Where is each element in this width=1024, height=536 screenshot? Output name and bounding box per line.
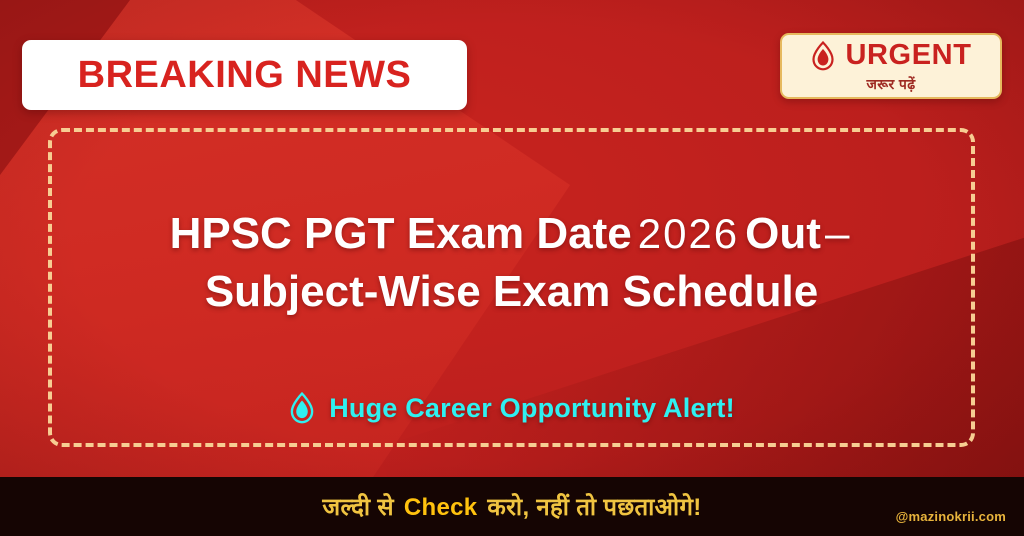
headline-prefix: HPSC PGT Exam Date <box>170 209 632 258</box>
cta-suffix: करो, नहीं तो पछताओगे! <box>487 494 701 521</box>
urgent-label: URGENT <box>845 41 971 70</box>
droplet-icon <box>288 392 316 424</box>
headline-line-1: HPSC PGT Exam Date2026Out– <box>48 205 975 263</box>
breaking-news-badge: BREAKING NEWS <box>22 40 467 110</box>
cta-prefix: जल्दी से <box>322 494 394 521</box>
subheading-block: Huge Career Opportunity Alert! <box>48 392 975 424</box>
urgent-badge-row: URGENT <box>810 41 971 71</box>
droplet-icon <box>810 41 836 71</box>
cta-highlight: Check <box>401 494 481 521</box>
breaking-news-banner: BREAKING NEWS URGENT जरूर पढ़ें HPSC PGT… <box>0 0 1024 536</box>
headline-block: HPSC PGT Exam Date2026Out– Subject-Wise … <box>48 205 975 321</box>
headline-suffix: Out <box>745 209 821 258</box>
headline-dash: – <box>821 209 853 258</box>
urgent-sublabel: जरूर पढ़ें <box>866 75 915 94</box>
breaking-news-label: BREAKING NEWS <box>78 56 412 94</box>
bottom-cta-bar: जल्दी से Check करो, नहीं तो पछताओगे! @ma… <box>0 477 1024 536</box>
subheading-text: Huge Career Opportunity Alert! <box>329 395 735 422</box>
headline-line-2: Subject-Wise Exam Schedule <box>48 263 975 321</box>
bottom-cta-text: जल्दी से Check करो, नहीं तो पछताओगे! <box>322 490 701 523</box>
urgent-badge: URGENT जरूर पढ़ें <box>780 33 1002 99</box>
headline-year: 2026 <box>632 210 745 257</box>
site-watermark: @mazinokrii.com <box>896 509 1006 524</box>
